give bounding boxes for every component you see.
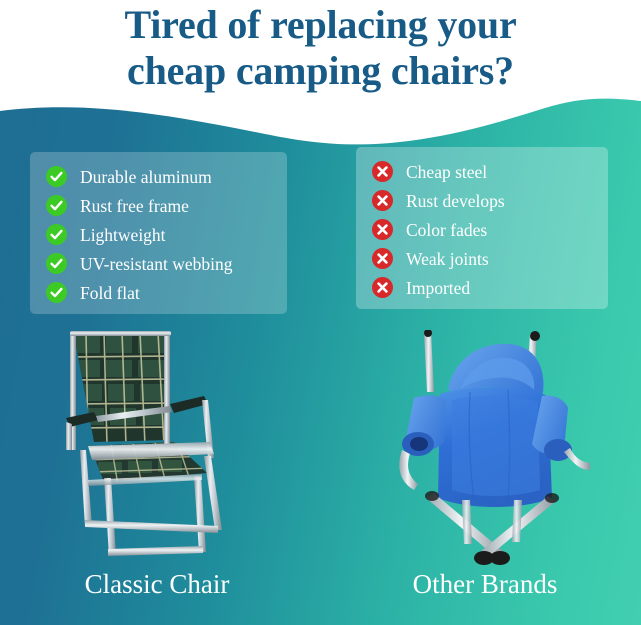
- classic-chair-image: [52, 330, 267, 568]
- list-item: Cheap steel: [372, 157, 594, 186]
- other-brands-caption: Other Brands: [360, 568, 610, 600]
- list-item-label: Weak joints: [406, 249, 489, 269]
- list-item-label: Lightweight: [80, 225, 166, 245]
- check-circle-icon: [46, 282, 67, 303]
- list-item-label: UV-resistant webbing: [80, 254, 232, 274]
- list-item: Fold flat: [46, 278, 273, 307]
- list-item: Color fades: [372, 215, 594, 244]
- list-item-label: Rust develops: [406, 191, 505, 211]
- comparison-infographic: Tired of replacing your cheap camping ch…: [0, 0, 641, 625]
- classic-chair-caption: Classic Chair: [32, 568, 282, 600]
- list-item: Imported: [372, 273, 594, 302]
- page-title-line-2: cheap camping chairs?: [0, 48, 641, 94]
- check-circle-icon: [46, 166, 67, 187]
- cross-circle-icon: [372, 219, 393, 240]
- list-item-label: Fold flat: [80, 283, 140, 303]
- cross-circle-icon: [372, 190, 393, 211]
- list-item-label: Imported: [406, 278, 470, 298]
- pros-panel: Durable aluminum Rust free frame Lightwe…: [30, 152, 287, 314]
- cons-list: Cheap steel Rust develops Color fades We…: [372, 157, 594, 302]
- list-item: Rust develops: [372, 186, 594, 215]
- list-item-label: Durable aluminum: [80, 167, 212, 187]
- page-title: Tired of replacing your cheap camping ch…: [0, 2, 641, 94]
- cross-circle-icon: [372, 161, 393, 182]
- list-item: Rust free frame: [46, 191, 273, 220]
- cons-panel: Cheap steel Rust develops Color fades We…: [356, 147, 608, 309]
- cross-circle-icon: [372, 248, 393, 269]
- other-brand-chair-image: [352, 330, 592, 568]
- list-item-label: Cheap steel: [406, 162, 487, 182]
- check-circle-icon: [46, 195, 67, 216]
- list-item-label: Rust free frame: [80, 196, 189, 216]
- cross-circle-icon: [372, 277, 393, 298]
- check-circle-icon: [46, 253, 67, 274]
- list-item: Weak joints: [372, 244, 594, 273]
- list-item: Lightweight: [46, 220, 273, 249]
- list-item-label: Color fades: [406, 220, 487, 240]
- check-circle-icon: [46, 224, 67, 245]
- list-item: UV-resistant webbing: [46, 249, 273, 278]
- list-item: Durable aluminum: [46, 162, 273, 191]
- pros-list: Durable aluminum Rust free frame Lightwe…: [46, 162, 273, 307]
- page-title-line-1: Tired of replacing your: [0, 2, 641, 48]
